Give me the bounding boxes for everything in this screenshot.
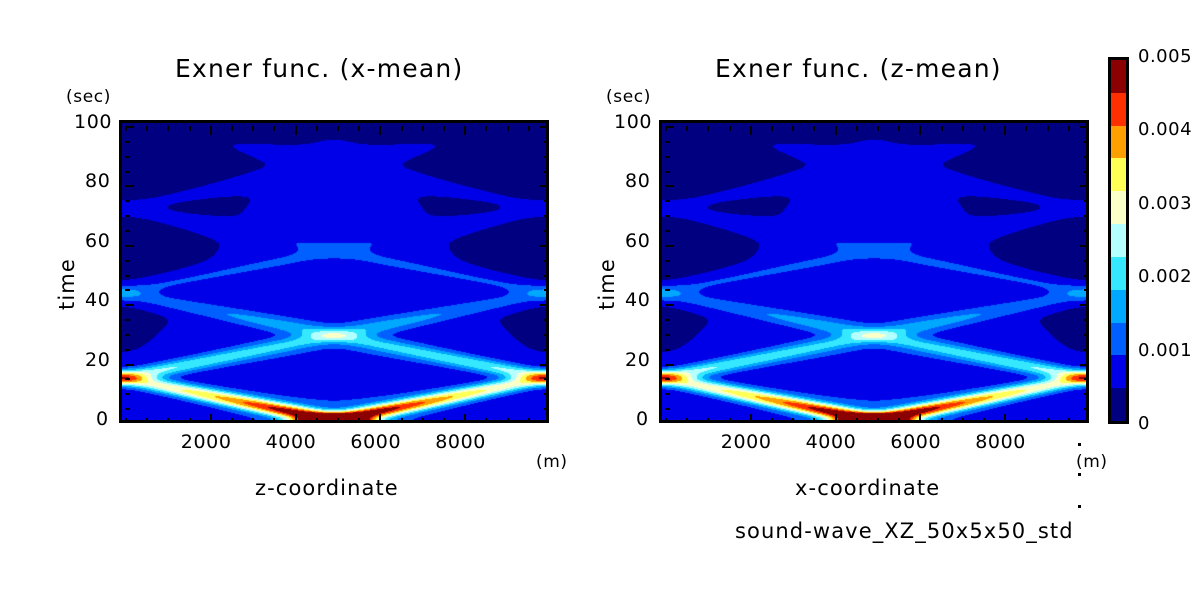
- axis-tick: [125, 141, 130, 143]
- axis-tick: [962, 126, 964, 131]
- axis-tick: [125, 245, 134, 247]
- axis-tick: [665, 289, 670, 291]
- axis-tick: [125, 171, 130, 173]
- axis-tick: [544, 260, 549, 262]
- yaxis-tick-label-100: 100: [74, 111, 112, 133]
- axis-tick: [665, 349, 670, 351]
- axis-tick: [665, 156, 670, 158]
- axis-tick: [729, 418, 731, 423]
- axis-tick: [125, 378, 130, 380]
- xaxis-tick-label-4000: 4000: [266, 431, 317, 453]
- axis-tick: [443, 418, 445, 423]
- axis-tick: [316, 418, 318, 423]
- axis-tick: [379, 414, 381, 423]
- axis-tick: [125, 418, 127, 423]
- axis-tick: [1084, 289, 1089, 291]
- axis-tick: [983, 126, 985, 131]
- axis-tick: [544, 156, 549, 158]
- colorbar-band-7: [1111, 158, 1126, 191]
- axis-tick: [665, 185, 674, 187]
- axis-tick: [422, 126, 424, 131]
- colorbar-strip[interactable]: [1108, 57, 1129, 424]
- axis-tick: [665, 260, 670, 262]
- axis-tick: [358, 126, 360, 131]
- xaxis-tick-label-2000: 2000: [181, 431, 232, 453]
- axis-tick: [771, 418, 773, 423]
- axis-tick: [125, 156, 130, 158]
- axis-tick: [125, 200, 130, 202]
- figure-canvas: Exner func. (x-mean) (sec) time (m) z-co…: [0, 0, 1204, 604]
- axis-tick: [898, 418, 900, 423]
- axis-tick: [665, 126, 674, 128]
- yaxis-tick-label-20: 20: [625, 349, 650, 371]
- axis-tick: [877, 418, 879, 423]
- axis-tick: [125, 289, 130, 291]
- axis-tick: [813, 418, 815, 423]
- yaxis-tick-label-80: 80: [625, 170, 650, 192]
- axis-tick: [401, 418, 403, 423]
- axis-tick: [665, 275, 670, 277]
- axis-tick: [707, 418, 709, 423]
- figure-caption: sound-wave_XZ_50x5x50_std: [735, 519, 1074, 543]
- panel-left-title: Exner func. (x-mean): [175, 54, 463, 83]
- colorbar-label-0.005: 0.005: [1138, 46, 1192, 67]
- colorbar-label-0.002: 0.002: [1138, 266, 1192, 287]
- axis-tick: [507, 126, 509, 131]
- axis-tick: [1084, 349, 1089, 351]
- panel-left-plot-area[interactable]: [119, 120, 549, 423]
- axis-tick: [528, 418, 530, 423]
- axis-tick: [919, 414, 921, 423]
- axis-tick: [125, 319, 130, 321]
- axis-tick: [1084, 200, 1089, 202]
- axis-tick: [125, 393, 130, 395]
- axis-tick: [686, 126, 688, 131]
- xaxis-tick-label-8000: 8000: [435, 431, 486, 453]
- axis-tick: [544, 230, 549, 232]
- axis-tick: [665, 230, 670, 232]
- axis-tick: [146, 126, 148, 131]
- colorbar-band-2: [1111, 323, 1126, 356]
- colorbar-label-0.004: 0.004: [1138, 119, 1192, 140]
- axis-tick: [835, 414, 837, 423]
- yaxis-tick-label-0: 0: [96, 408, 109, 430]
- xaxis-tick-label-6000: 6000: [350, 431, 401, 453]
- axis-tick: [544, 334, 549, 336]
- axis-tick: [485, 418, 487, 423]
- axis-tick: [665, 304, 674, 306]
- axis-tick: [750, 126, 752, 135]
- axis-tick: [125, 364, 134, 366]
- panel-right-xaxis-label: x-coordinate: [795, 476, 940, 500]
- axis-tick: [856, 126, 858, 131]
- axis-tick: [167, 418, 169, 423]
- axis-tick: [189, 418, 191, 423]
- axis-tick: [750, 414, 752, 423]
- axis-tick: [544, 215, 549, 217]
- render-speck: [1078, 505, 1081, 508]
- axis-tick: [125, 260, 130, 262]
- axis-tick: [919, 126, 921, 135]
- axis-tick: [665, 245, 674, 247]
- panel-right-plot-area[interactable]: [659, 120, 1089, 423]
- axis-tick: [125, 215, 130, 217]
- axis-tick: [544, 289, 549, 291]
- axis-tick: [379, 126, 381, 135]
- axis-tick: [316, 126, 318, 131]
- panel-left-xaxis-unit: (m): [536, 452, 568, 472]
- axis-tick: [422, 418, 424, 423]
- axis-tick: [210, 126, 212, 135]
- axis-tick: [231, 126, 233, 131]
- axis-tick: [544, 378, 549, 380]
- yaxis-tick-label-0: 0: [636, 408, 649, 430]
- axis-tick: [1084, 141, 1089, 143]
- xaxis-tick-label-8000: 8000: [975, 431, 1026, 453]
- yaxis-tick-label-20: 20: [85, 349, 110, 371]
- axis-tick: [962, 418, 964, 423]
- axis-tick: [125, 126, 134, 128]
- axis-tick: [941, 126, 943, 131]
- axis-tick: [125, 185, 134, 187]
- axis-tick: [1084, 408, 1089, 410]
- axis-tick: [125, 349, 130, 351]
- colorbar-band-8: [1111, 126, 1126, 159]
- yaxis-tick-label-100: 100: [614, 111, 652, 133]
- axis-tick: [665, 393, 670, 395]
- axis-tick: [295, 126, 297, 135]
- xaxis-tick-label-4000: 4000: [806, 431, 857, 453]
- xaxis-tick-label-6000: 6000: [890, 431, 941, 453]
- axis-tick: [665, 171, 670, 173]
- colorbar-label-0.001: 0.001: [1138, 340, 1192, 361]
- axis-tick: [544, 349, 549, 351]
- axis-tick: [210, 414, 212, 423]
- panel-right-yaxis-label: time: [595, 258, 619, 310]
- axis-tick: [273, 418, 275, 423]
- axis-tick: [771, 126, 773, 131]
- axis-tick: [1080, 245, 1089, 247]
- axis-tick: [125, 334, 130, 336]
- colorbar-band-10: [1111, 60, 1126, 93]
- render-speck: [1078, 443, 1081, 446]
- axis-tick: [877, 126, 879, 131]
- axis-tick: [252, 418, 254, 423]
- axis-tick: [540, 245, 549, 247]
- axis-tick: [665, 418, 667, 423]
- panel-left-contour-field: [122, 123, 546, 420]
- axis-tick: [544, 141, 549, 143]
- axis-tick: [540, 185, 549, 187]
- axis-tick: [1080, 304, 1089, 306]
- panel-left-yaxis-unit: (sec): [66, 87, 111, 107]
- axis-tick: [792, 418, 794, 423]
- axis-tick: [231, 418, 233, 423]
- axis-tick: [125, 304, 134, 306]
- colorbar-label-0: 0: [1138, 413, 1150, 434]
- axis-tick: [1025, 126, 1027, 131]
- axis-tick: [540, 304, 549, 306]
- panel-left-xaxis-label: z-coordinate: [255, 476, 399, 500]
- axis-tick: [540, 126, 549, 128]
- axis-tick: [507, 418, 509, 423]
- xaxis-tick-label-2000: 2000: [721, 431, 772, 453]
- axis-tick: [665, 141, 670, 143]
- colorbar-band-0: [1111, 388, 1126, 421]
- panel-left-yaxis-label: time: [55, 258, 79, 310]
- axis-tick: [665, 319, 670, 321]
- axis-tick: [665, 378, 670, 380]
- axis-tick: [1068, 126, 1070, 131]
- axis-tick: [125, 408, 130, 410]
- axis-tick: [443, 126, 445, 131]
- axis-tick: [358, 418, 360, 423]
- axis-tick: [252, 126, 254, 131]
- yaxis-tick-label-80: 80: [85, 170, 110, 192]
- axis-tick: [1047, 418, 1049, 423]
- yaxis-tick-label-40: 40: [85, 289, 110, 311]
- axis-tick: [125, 275, 130, 277]
- axis-tick: [983, 418, 985, 423]
- axis-tick: [1047, 126, 1049, 131]
- panel-right-xaxis-unit: (m): [1076, 452, 1108, 472]
- colorbar-band-1: [1111, 355, 1126, 388]
- axis-tick: [1080, 126, 1089, 128]
- axis-tick: [540, 364, 549, 366]
- axis-tick: [686, 418, 688, 423]
- axis-tick: [665, 200, 670, 202]
- axis-tick: [337, 126, 339, 131]
- axis-tick: [1080, 364, 1089, 366]
- axis-tick: [189, 126, 191, 131]
- axis-tick: [544, 393, 549, 395]
- axis-tick: [1004, 126, 1006, 135]
- axis-tick: [1084, 275, 1089, 277]
- yaxis-tick-label-60: 60: [625, 230, 650, 252]
- axis-tick: [544, 408, 549, 410]
- axis-tick: [273, 126, 275, 131]
- axis-tick: [1084, 378, 1089, 380]
- axis-tick: [1025, 418, 1027, 423]
- axis-tick: [544, 319, 549, 321]
- axis-tick: [464, 126, 466, 135]
- axis-tick: [1084, 393, 1089, 395]
- colorbar-band-4: [1111, 257, 1126, 290]
- axis-tick: [1084, 334, 1089, 336]
- axis-tick: [1084, 156, 1089, 158]
- axis-tick: [1084, 171, 1089, 173]
- axis-tick: [835, 126, 837, 135]
- axis-tick: [792, 126, 794, 131]
- axis-tick: [1084, 319, 1089, 321]
- panel-right-yaxis-unit: (sec): [606, 87, 651, 107]
- colorbar-band-9: [1111, 93, 1126, 126]
- axis-tick: [941, 418, 943, 423]
- axis-tick: [1084, 260, 1089, 262]
- axis-tick: [464, 414, 466, 423]
- axis-tick: [1068, 418, 1070, 423]
- axis-tick: [813, 126, 815, 131]
- axis-tick: [528, 126, 530, 131]
- axis-tick: [1004, 414, 1006, 423]
- axis-tick: [729, 126, 731, 131]
- axis-tick: [1084, 230, 1089, 232]
- axis-tick: [485, 126, 487, 131]
- axis-tick: [898, 126, 900, 131]
- colorbar-label-0.003: 0.003: [1138, 193, 1192, 214]
- axis-tick: [665, 215, 670, 217]
- axis-tick: [665, 364, 674, 366]
- axis-tick: [544, 171, 549, 173]
- panel-right-title: Exner func. (z-mean): [715, 54, 1002, 83]
- axis-tick: [337, 418, 339, 423]
- axis-tick: [1080, 185, 1089, 187]
- render-speck: [1078, 473, 1081, 476]
- axis-tick: [401, 126, 403, 131]
- panel-right-contour-field: [662, 123, 1086, 420]
- axis-tick: [146, 418, 148, 423]
- axis-tick: [1084, 215, 1089, 217]
- axis-tick: [707, 126, 709, 131]
- axis-tick: [665, 334, 670, 336]
- axis-tick: [544, 275, 549, 277]
- axis-tick: [665, 408, 670, 410]
- yaxis-tick-label-60: 60: [85, 230, 110, 252]
- axis-tick: [295, 414, 297, 423]
- colorbar-band-5: [1111, 224, 1126, 257]
- colorbar-band-6: [1111, 191, 1126, 224]
- axis-tick: [544, 200, 549, 202]
- yaxis-tick-label-40: 40: [625, 289, 650, 311]
- axis-tick: [167, 126, 169, 131]
- colorbar-band-3: [1111, 290, 1126, 323]
- axis-tick: [856, 418, 858, 423]
- axis-tick: [125, 230, 130, 232]
